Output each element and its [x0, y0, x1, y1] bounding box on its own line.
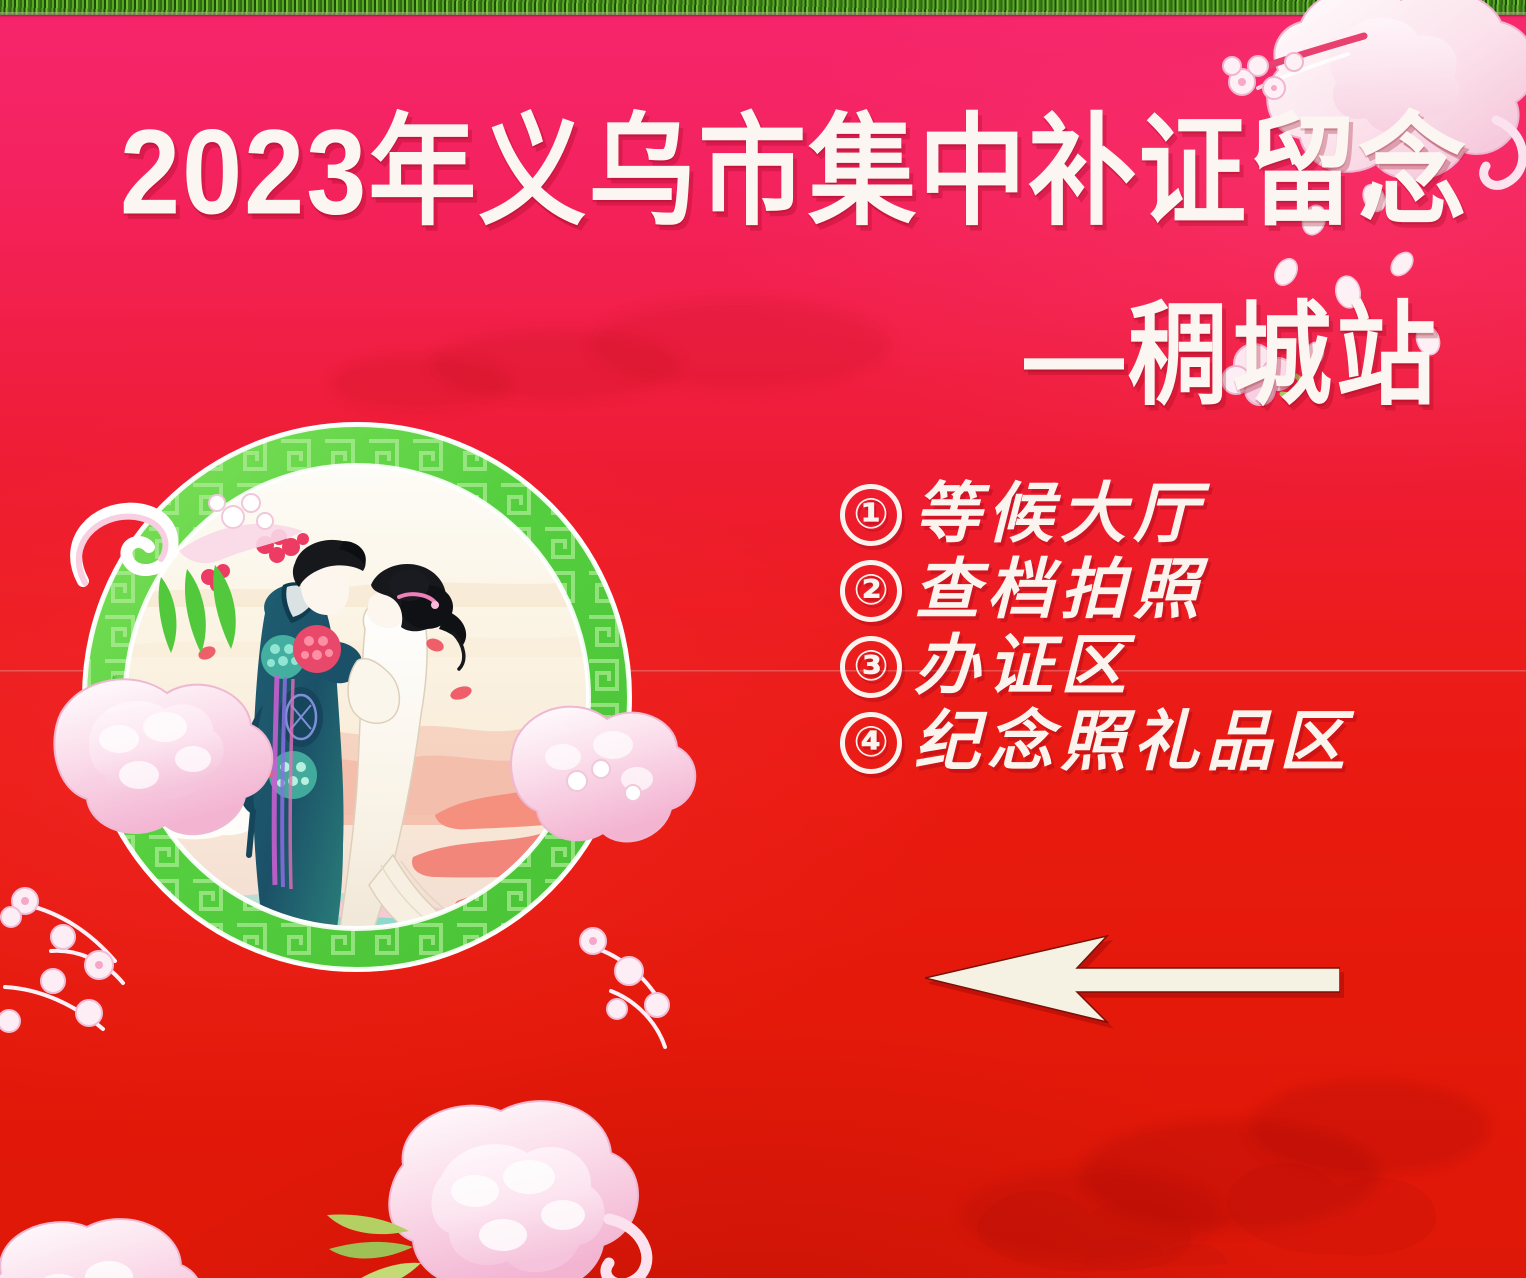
- list-item: ③ 办证区: [840, 634, 1352, 700]
- background-cloud-motif: [960, 1170, 1220, 1260]
- list-item: ① 等候大厅: [840, 482, 1352, 548]
- page-title: 2023年义乌市集中补证留念: [120, 108, 1468, 235]
- step-number-badge: ④: [840, 712, 902, 774]
- list-item: ② 查档拍照: [840, 558, 1352, 624]
- station-steps-list: ① 等候大厅 ② 查档拍照 ③ 办证区 ④ 纪念照礼品区: [840, 482, 1352, 776]
- step-label: 查档拍照: [914, 558, 1206, 624]
- step-number-badge: ③: [840, 636, 902, 698]
- step-label: 等候大厅: [914, 482, 1206, 548]
- background-cloud-motif: [1250, 1080, 1490, 1175]
- list-item: ④ 纪念照礼品区: [840, 710, 1352, 776]
- wedding-couple-illustration: [0, 345, 725, 1085]
- step-number-badge: ②: [840, 560, 902, 622]
- step-label: 办证区: [914, 634, 1133, 700]
- step-label: 纪念照礼品区: [914, 710, 1352, 776]
- banner-poster: 2023年义乌市集中补证留念 —稠城站 ① 等候大厅 ② 查档拍照 ③ 办证区 …: [0, 0, 1526, 1278]
- page-subtitle: —稠城站: [1024, 300, 1440, 412]
- direction-arrow-left-icon: [925, 922, 1340, 1034]
- step-number-badge: ①: [840, 484, 902, 546]
- grass-strip: [0, 0, 1526, 15]
